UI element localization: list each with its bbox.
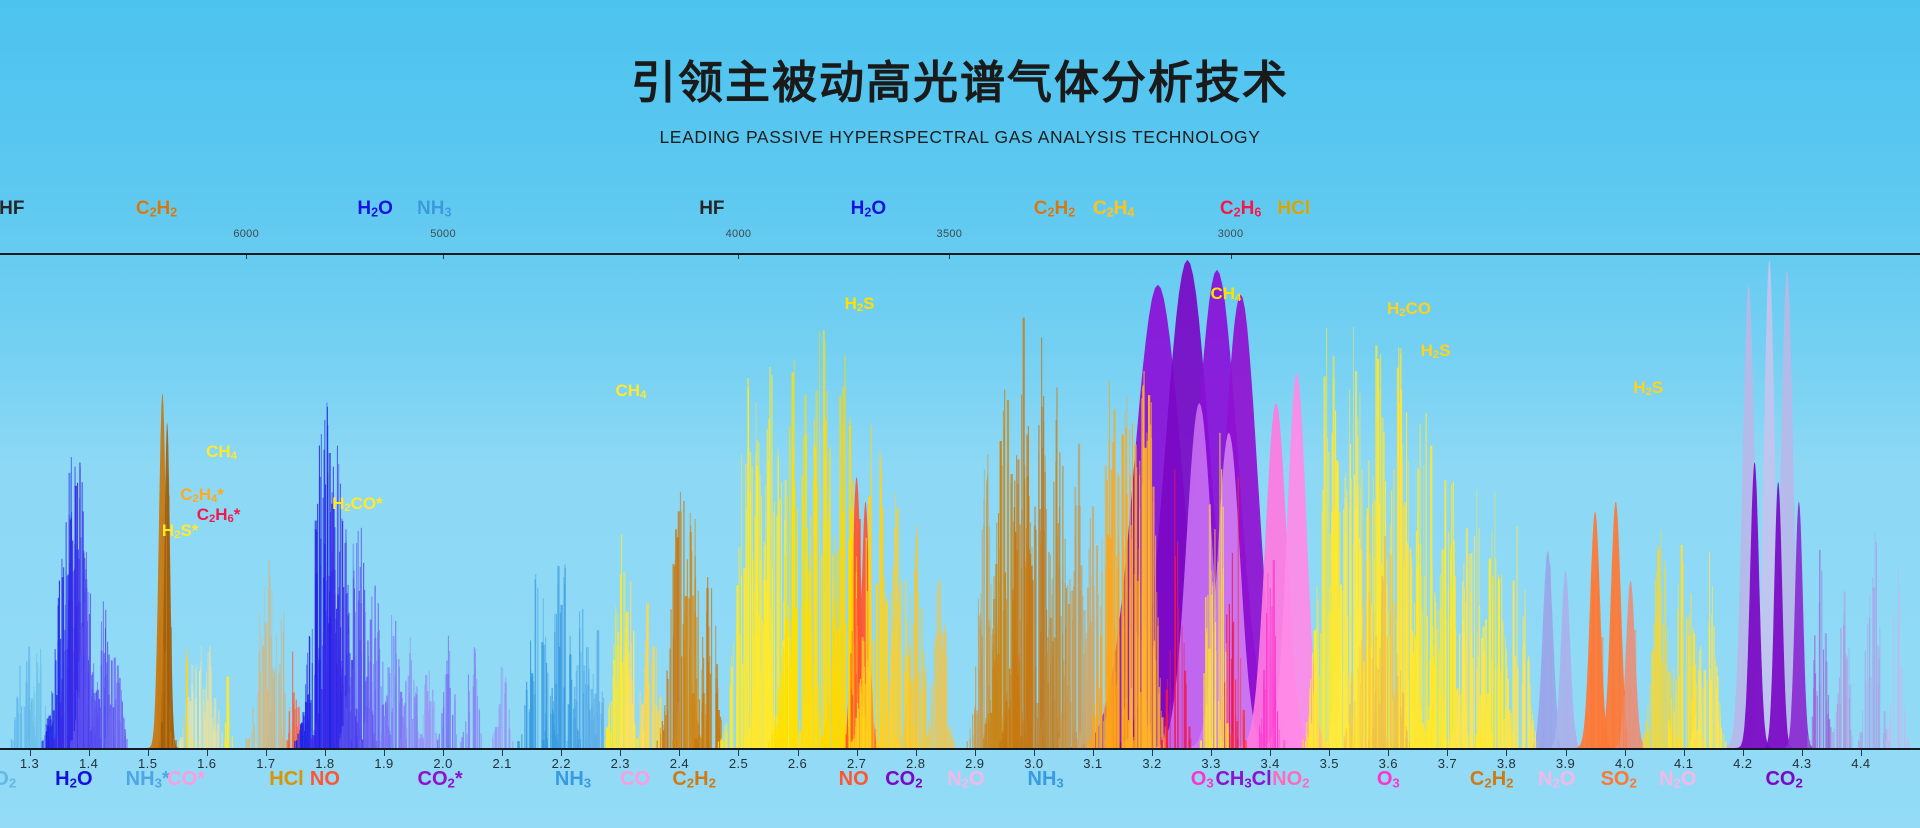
bottom-species-label-ch3cl: CH3Cl (1215, 768, 1271, 791)
top-species-label-nh3: NH3 (417, 198, 451, 220)
top-species-label-c2h6: C2H6 (1220, 198, 1261, 220)
bottom-species-label-cos: CO* (167, 768, 205, 791)
top-species-label-hcl: HCl (1277, 198, 1310, 220)
wavenumber-tick-label: 3500 (937, 228, 963, 240)
bottom-species-label-o2: O2 (0, 768, 16, 791)
banner-header: 引领主被动高光谱气体分析技术 LEADING PASSIVE HYPERSPEC… (0, 0, 1920, 198)
wavenumber-axis: 60005000400035003000 (0, 228, 1920, 254)
top-species-label-hf: HF (0, 198, 24, 220)
top-species-label-row: HFC2H2H2ONH3HFH2OC2H2C2H4C2H6HCl (0, 198, 1920, 228)
top-species-label-c2h4: C2H4 (1093, 198, 1134, 220)
bottom-species-label-c2h2: C2H2 (672, 768, 716, 791)
top-species-label-c2h2: C2H2 (1034, 198, 1075, 220)
spectral-curtain (0, 255, 1920, 748)
bottom-species-label-co2s: CO2* (418, 768, 463, 791)
top-species-label-hf: HF (699, 198, 724, 220)
top-species-label-h2o: H2O (851, 198, 887, 220)
top-species-label-c2h2: C2H2 (136, 198, 177, 220)
page-subtitle: LEADING PASSIVE HYPERSPECTRAL GAS ANALYS… (659, 127, 1260, 148)
bottom-species-label-so2: SO2 (1601, 768, 1637, 791)
bottom-species-label-o3: O3 (1191, 768, 1214, 791)
page-title: 引领主被动高光谱气体分析技术 (631, 58, 1289, 108)
wavenumber-tick-label: 4000 (726, 228, 752, 240)
bottom-species-label-no2: NO2 (1272, 768, 1309, 791)
spectrum-plot: H2SCH4H2COH2SH2SCH4C2H4*C2H6*H2S*H2CO*CH… (0, 255, 1920, 748)
wavenumber-tick-label: 5000 (430, 228, 456, 240)
spectrum-banner: 引领主被动高光谱气体分析技术 LEADING PASSIVE HYPERSPEC… (0, 0, 1920, 828)
bottom-species-label-n2o: N2O (1659, 768, 1696, 791)
bottom-species-label-no: NO (310, 768, 340, 791)
bottom-species-label-co2: CO2 (1765, 768, 1802, 791)
bottom-species-label-nh3s: NH3* (126, 768, 170, 791)
bottom-species-label-c2h2: C2H2 (1470, 768, 1514, 791)
bottom-species-label-hcl: HCl (269, 768, 303, 791)
bottom-species-label-nh3: NH3 (555, 768, 591, 791)
bottom-species-label-o3: O3 (1377, 768, 1400, 791)
bottom-species-label-co: CO (620, 768, 650, 791)
top-species-label-h2o: H2O (357, 198, 393, 220)
bottom-species-label-h2o: H2O (55, 768, 92, 791)
bottom-species-label-n2o: N2O (1538, 768, 1575, 791)
bottom-species-label-n2o: N2O (947, 768, 984, 791)
bottom-species-label-row: O2H2ONH3*CO*HClNOCO2*NH3COC2H2NOCO2N2ONH… (0, 768, 1920, 818)
wavenumber-tick-label: 3000 (1218, 228, 1244, 240)
bottom-species-label-no: NO (839, 768, 869, 791)
bottom-species-label-co2: CO2 (885, 768, 922, 791)
bottom-species-label-nh3: NH3 (1028, 768, 1064, 791)
wavenumber-tick-label: 6000 (233, 228, 259, 240)
